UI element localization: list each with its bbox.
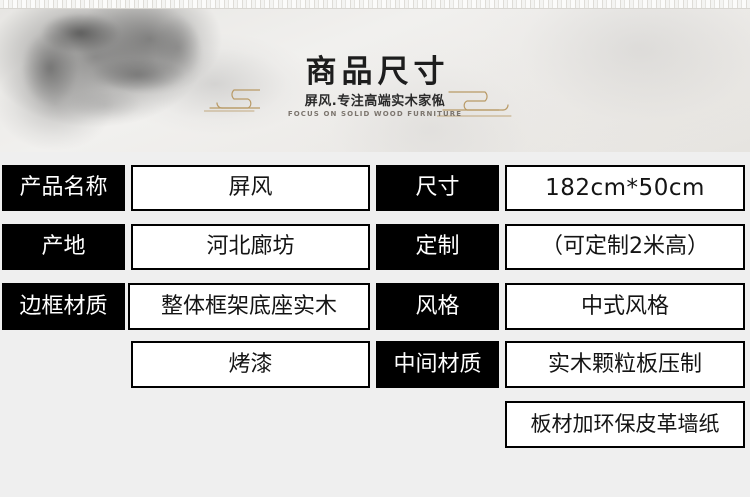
spec-value-style: 中式风格	[505, 283, 745, 330]
spec-value-core-material: 实木颗粒板压制	[505, 341, 745, 388]
spec-label-product-name: 产品名称	[2, 165, 125, 211]
spec-label-origin: 产地	[2, 224, 125, 270]
spec-label-style: 风格	[376, 283, 499, 330]
banner-title: 商品尺寸	[0, 46, 750, 91]
spec-value-customization: （可定制2米高）	[505, 224, 745, 270]
spec-value-frame-finish: 烤漆	[131, 341, 370, 388]
spec-label-frame-material: 边框材质	[2, 283, 125, 330]
spec-value-origin: 河北廊坊	[131, 224, 370, 270]
spec-label-customization: 定制	[376, 224, 499, 270]
spec-value-product-name: 屏风	[131, 165, 370, 211]
banner-subtitle-en: FOCUS ON SOLID WOOD FURNITURE	[0, 110, 750, 118]
specification-table: 产品名称 屏风 尺寸 182cm*50cm 产地 河北廊坊 定制 （可定制2米高…	[0, 152, 750, 497]
banner-subtitle: 屏风.专注高端实木家俬	[0, 90, 750, 109]
top-decorative-strip	[0, 0, 750, 9]
spec-label-size: 尺寸	[376, 165, 499, 211]
spec-value-surface-material: 板材加环保皮革墙纸	[505, 401, 745, 448]
spec-value-frame-material: 整体框架底座实木	[128, 283, 370, 330]
spec-value-size: 182cm*50cm	[505, 165, 745, 211]
spec-label-core-material: 中间材质	[376, 341, 499, 388]
banner: 商品尺寸 屏风.专注高端实木家俬 FOCUS ON SOLID WOOD FUR…	[0, 9, 750, 152]
